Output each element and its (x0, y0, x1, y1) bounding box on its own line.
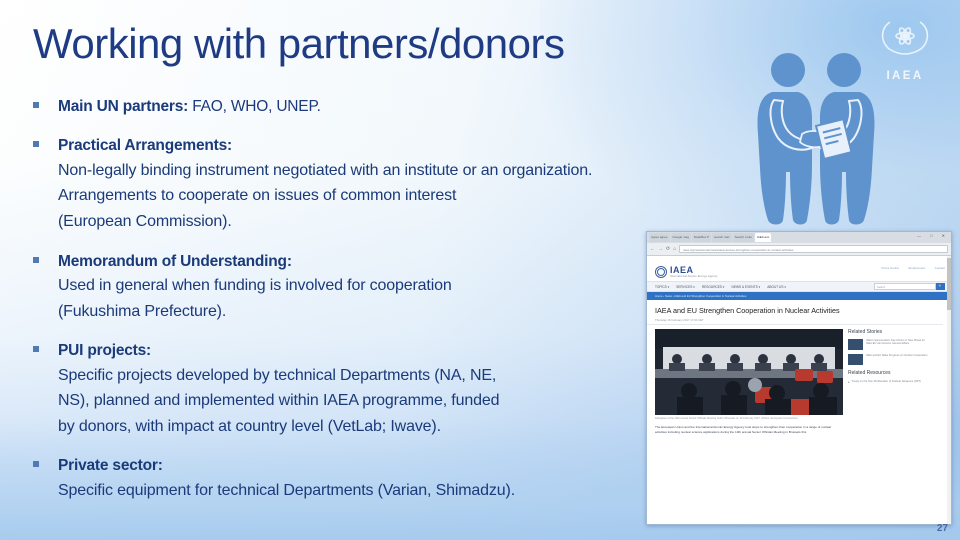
related-story-thumbnail (848, 339, 863, 350)
browser-scrollbar-thumb[interactable] (947, 258, 951, 310)
bullet-line: Non-legally binding instrument negotiate… (58, 158, 680, 184)
bullet-item-main-un-partners: Main UN partners: FAO, WHO, UNEP. (30, 95, 680, 118)
article-sidebar: Related Stories IAEA Implementation Day … (848, 329, 932, 435)
site-nav-bar: TOPICS ▾ SERVICES ▾ RESOURCES ▾ NEWS & E… (647, 281, 951, 292)
browser-tab-active[interactable]: IAEA anc (755, 233, 771, 242)
bullet-heading: Memorandum of Understanding: (58, 250, 680, 273)
window-controls[interactable]: — □ ✕ (917, 233, 949, 238)
browser-tab[interactable]: Search Links (733, 233, 754, 242)
bullet-marker-icon (33, 102, 39, 108)
browser-screenshot: Agree agree Google mag Data/Box P search… (646, 231, 952, 525)
bullet-heading: Main UN partners: FAO, WHO, UNEP. (58, 95, 680, 118)
bullet-line: Used in general when funding is involved… (58, 273, 680, 299)
article-body-text: The European Union and the International… (655, 421, 843, 435)
site-search-input[interactable]: Search (874, 283, 936, 290)
utility-link-employment[interactable]: Employment (909, 266, 926, 270)
related-story-item[interactable]: IAEA Implementation Day Ushers in New Ph… (848, 337, 932, 352)
breadcrumb-text[interactable]: Home › News › IAEA and EU Strengthen Coo… (655, 294, 746, 298)
iaea-atom-icon (655, 266, 667, 278)
site-search-icon[interactable]: 🔍 (936, 283, 945, 290)
conference-room-photo-icon (655, 329, 843, 415)
bullet-line: NS), planned and implemented within IAEA… (58, 388, 680, 414)
site-utility-links: Press Centre Employment Contact (647, 256, 951, 265)
browser-tab[interactable]: Data/Box P (692, 233, 711, 242)
home-icon[interactable]: ⌂ (673, 246, 676, 252)
site-logo-name: IAEA (670, 266, 718, 275)
browser-tab[interactable]: search mac (712, 233, 732, 242)
browser-tab-bar: Agree agree Google mag Data/Box P search… (647, 232, 951, 243)
bullet-heading: Practical Arrangements: (58, 134, 680, 157)
bullet-line: (European Commission). (58, 209, 680, 235)
related-story-item[interactable]: IAEA and EU Make Progress on Nuclear Coo… (848, 352, 932, 367)
article-headline: IAEA and EU Strengthen Cooperation in Nu… (647, 300, 951, 315)
bullet-heading: Private sector: (58, 454, 680, 477)
bullet-marker-icon (33, 141, 39, 147)
related-resource-item[interactable]: ▸ Treaty on the Non-Proliferation of Nuc… (848, 378, 932, 385)
bullet-marker-icon (33, 461, 39, 467)
bullet-line: by donors, with impact at country level … (58, 414, 680, 440)
article-date: Thursday 16 February 2017 17:00 CET (647, 315, 943, 325)
bullet-heading: PUI projects: (58, 339, 680, 362)
bullet-line: Specific equipment for technical Departm… (58, 478, 680, 504)
bullet-item-pui-projects: PUI projects: Specific projects develope… (30, 339, 680, 440)
bullet-item-memorandum-of-understanding: Memorandum of Understanding: Used in gen… (30, 250, 680, 325)
browser-tab[interactable]: Google mag (671, 233, 691, 242)
browser-tab[interactable]: Agree agree (649, 233, 670, 242)
page-title: Working with partners/donors (33, 20, 564, 68)
article-main-column: Delegates at the 10th annual Senior Offi… (655, 329, 843, 435)
utility-link-contact[interactable]: Contact (935, 266, 945, 270)
bullet-marker-icon (33, 257, 39, 263)
bullet-line: (Fukushima Prefecture). (58, 299, 680, 325)
browser-address-bar: ← → ⟳ ⌂ iaea.org/newscenter/news/iaea-an… (647, 243, 951, 256)
bullet-list: Main UN partners: FAO, WHO, UNEP. Practi… (30, 95, 680, 515)
related-stories-title: Related Stories (848, 329, 932, 337)
bullet-line: Arrangements to cooperate on issues of c… (58, 183, 680, 209)
document-icon: ▸ (848, 380, 850, 384)
nav-item-services[interactable]: SERVICES ▾ (676, 285, 695, 289)
site-logo-text: IAEA International Atomic Energy Agency (670, 266, 718, 278)
bullet-line: Specific projects developed by technical… (58, 363, 680, 389)
nav-item-topics[interactable]: TOPICS ▾ (655, 285, 669, 289)
related-story-text: IAEA Implementation Day Ushers in New Ph… (866, 339, 932, 350)
site-logo-subtitle: International Atomic Energy Agency (670, 275, 718, 278)
bullet-item-private-sector: Private sector: Specific equipment for t… (30, 454, 680, 503)
browser-scrollbar-track[interactable] (947, 256, 951, 524)
handshake-partnership-illustration (750, 48, 882, 230)
nav-item-news-events[interactable]: NEWS & EVENTS ▾ (732, 285, 761, 289)
site-search: Search 🔍 (874, 283, 945, 290)
site-logo[interactable]: IAEA International Atomic Energy Agency (647, 265, 951, 281)
nav-item-resources[interactable]: RESOURCES ▾ (702, 285, 725, 289)
related-story-thumbnail (848, 354, 863, 365)
bullet-marker-icon (33, 346, 39, 352)
nav-item-about-us[interactable]: ABOUT US ▾ (767, 285, 786, 289)
handshake-icon (750, 48, 882, 230)
article-photo (655, 329, 843, 415)
bullet-item-practical-arrangements: Practical Arrangements: Non-legally bind… (30, 134, 680, 235)
breadcrumb: Home › News › IAEA and EU Strengthen Coo… (647, 292, 951, 300)
browser-viewport: Press Centre Employment Contact IAEA Int… (647, 256, 951, 524)
utility-link-press-centre[interactable]: Press Centre (882, 266, 900, 270)
article-columns: Delegates at the 10th annual Senior Offi… (647, 325, 951, 435)
url-input[interactable]: iaea.org/newscenter/news/iaea-and-eu-str… (679, 245, 948, 253)
slide-canvas: Working with partners/donors IAEA (0, 0, 960, 540)
related-resources-title: Related Resources (848, 367, 932, 378)
bullet-heading-rest: FAO, WHO, UNEP. (188, 98, 321, 115)
reload-icon[interactable]: ⟳ (666, 246, 670, 252)
related-story-text: IAEA and EU Make Progress on Nuclear Coo… (866, 354, 927, 365)
forward-icon[interactable]: → (658, 246, 663, 252)
slide-number: 27 (937, 523, 948, 534)
back-icon[interactable]: ← (650, 246, 655, 252)
related-resource-text: Treaty on the Non-Proliferation of Nucle… (852, 380, 922, 384)
